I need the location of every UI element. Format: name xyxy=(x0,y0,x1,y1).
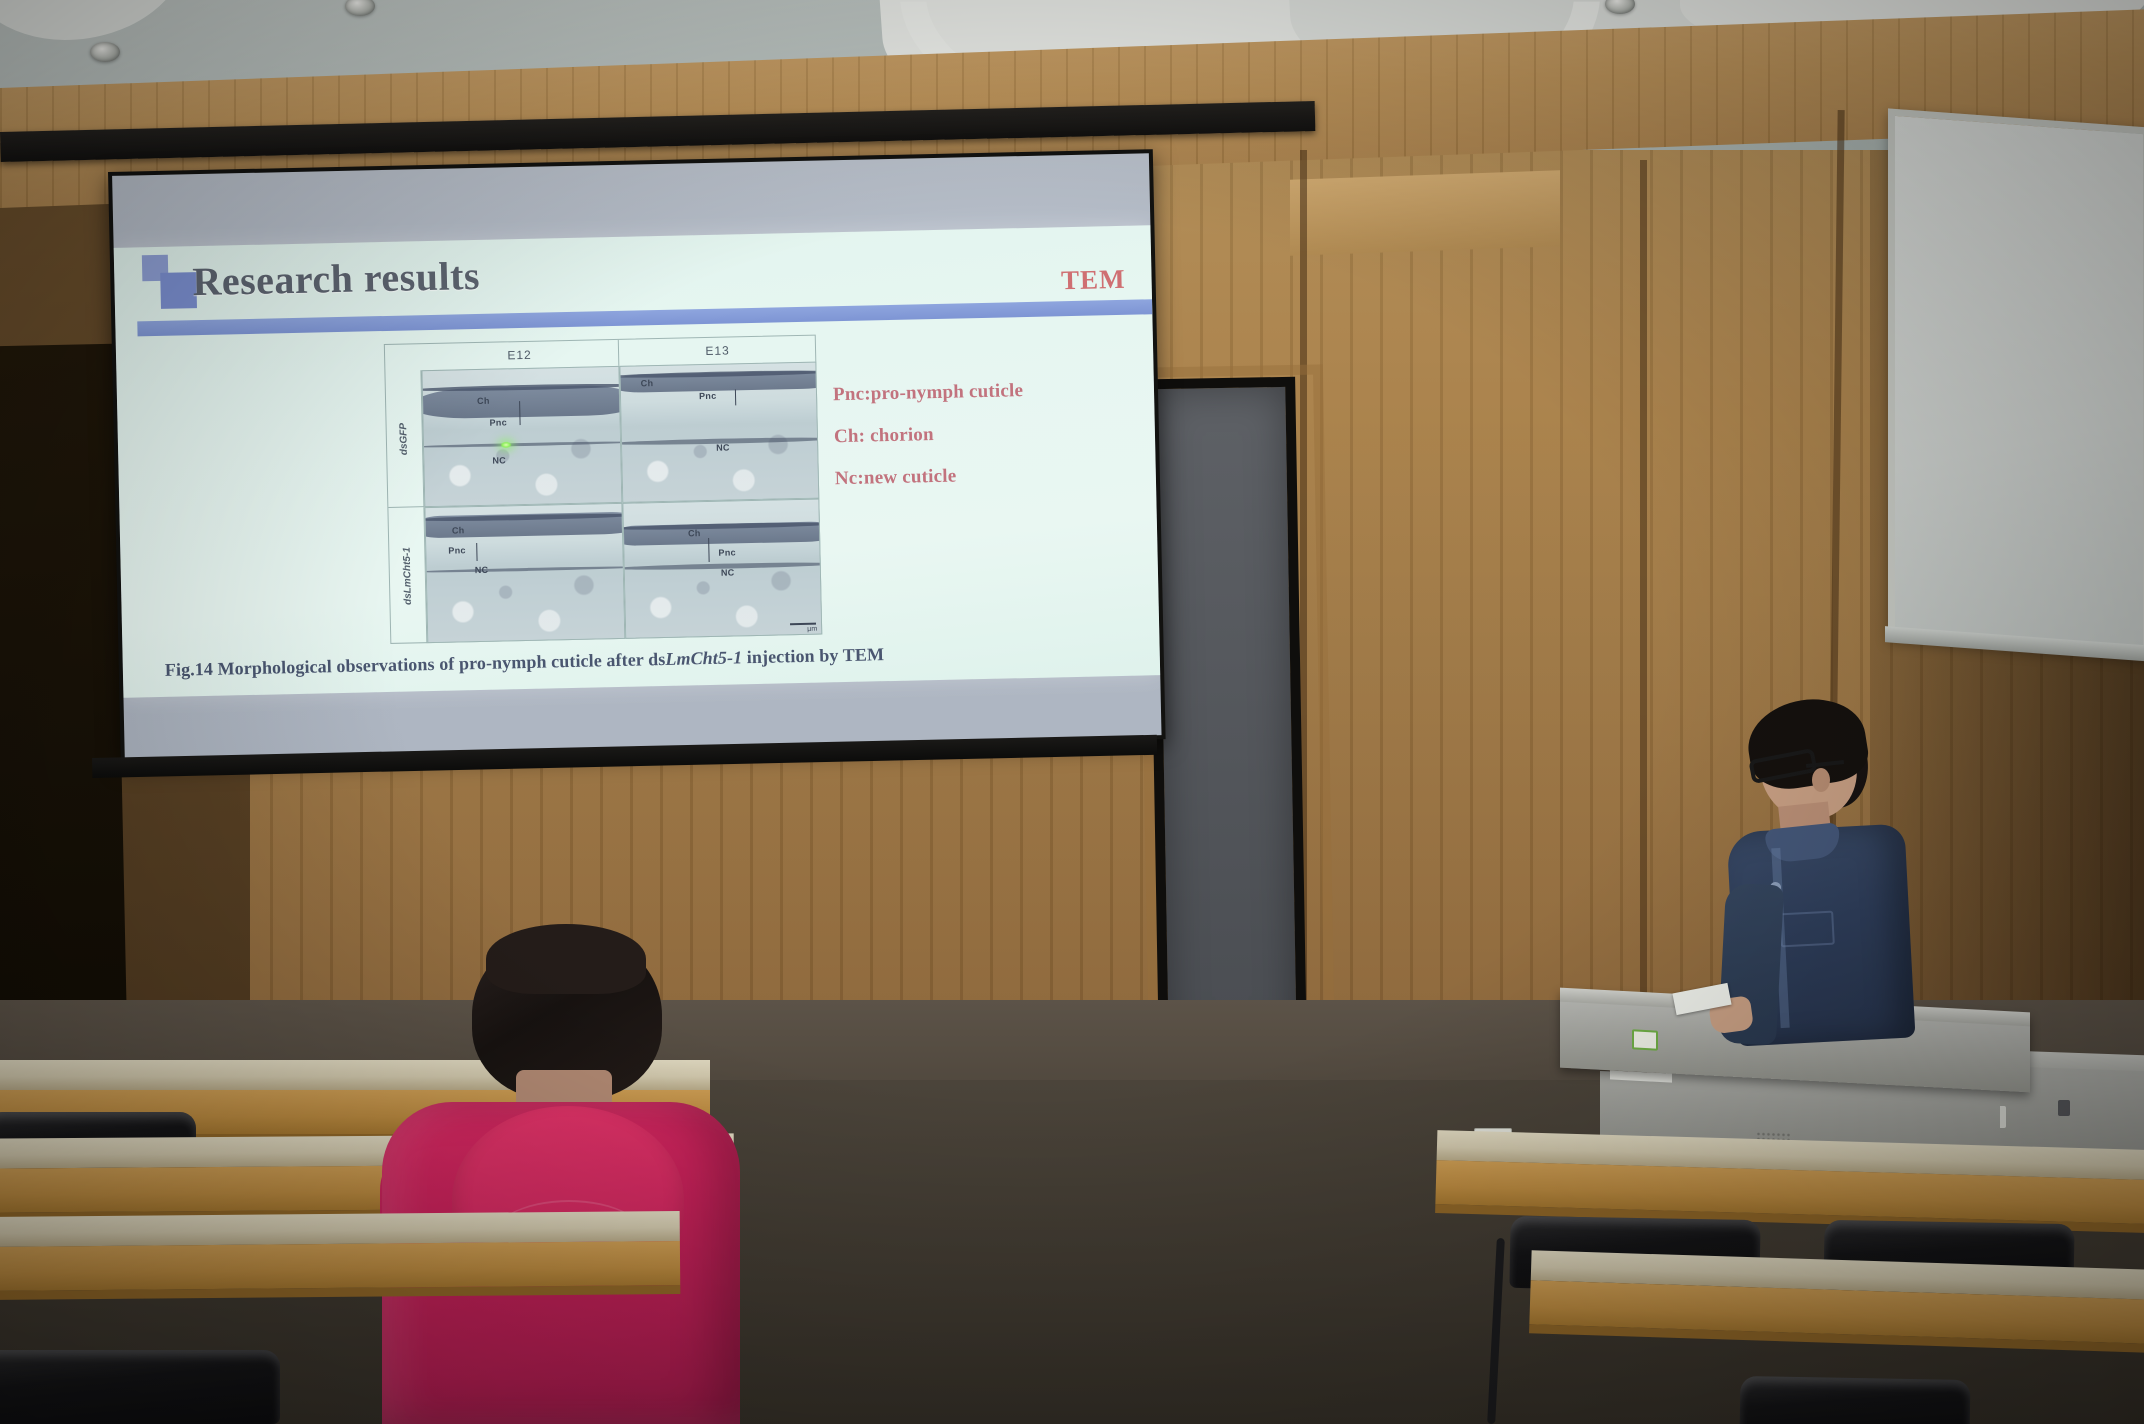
caption-gene-name: LmCht5-1 xyxy=(665,647,742,669)
figure-caption: Fig.14 Morphological observations of pro… xyxy=(165,639,1125,681)
row-label-dslmcht5-1: dsLmCht5-1 xyxy=(388,507,427,644)
row-label-dsgfp: dsGFP xyxy=(385,370,424,508)
legend-item-ch: Ch: chorion xyxy=(834,420,1114,448)
legend-item-pnc: Pnc:pro-nymph cuticle xyxy=(833,378,1113,406)
panel-label-nc: NC xyxy=(716,443,730,453)
wall-seam xyxy=(1640,160,1647,1020)
scale-bar-label: µm xyxy=(807,626,817,633)
projection-screen-surface: Research results TEM E12 E13 dsGFP dsLmC… xyxy=(112,153,1161,757)
panel-label-pnc: Pnc xyxy=(489,417,507,427)
caption-suffix: injection by TEM xyxy=(742,644,884,667)
presentation-slide: Research results TEM E12 E13 dsGFP dsLmC… xyxy=(114,225,1161,698)
wall-beam xyxy=(1290,170,1560,255)
tem-panel-dslmcht5-1-e12: Ch Pnc NC xyxy=(424,503,625,643)
panel-label-ch: Ch xyxy=(452,525,465,535)
panel-label-nc: NC xyxy=(475,565,489,575)
desk-row xyxy=(0,1211,680,1305)
tem-panel-dsgfp-e13: Ch Pnc NC xyxy=(619,362,819,503)
panel-label-nc: NC xyxy=(721,567,735,577)
presenter xyxy=(1688,700,1958,1040)
panel-label-ch: Ch xyxy=(688,528,701,538)
row-label-text: dsGFP xyxy=(399,422,411,454)
desk-row xyxy=(1529,1250,2144,1365)
podium-inventory-sticker xyxy=(1632,1029,1658,1050)
presenter-ear xyxy=(1812,768,1830,792)
panel-label-ch: Ch xyxy=(641,378,654,388)
whiteboard xyxy=(1888,108,2144,657)
panel-label-pnc: Pnc xyxy=(448,545,466,555)
caption-prefix: Fig.14 Morphological observations of pro… xyxy=(165,649,666,680)
presenter-jacket-pocket xyxy=(1779,911,1835,948)
tem-panel-dslmcht5-1-e13: Ch Pnc NC µm xyxy=(622,499,822,639)
audience-hair-top xyxy=(486,924,646,994)
panel-label-pnc: Pnc xyxy=(699,391,717,401)
downlight-icon xyxy=(90,42,120,62)
chair-back[interactable] xyxy=(0,1350,280,1424)
chair-back[interactable] xyxy=(1739,1376,1970,1424)
slide-legend: Pnc:pro-nymph cuticle Ch: chorion Nc:new… xyxy=(833,378,1116,510)
downlight-icon xyxy=(345,0,375,16)
ceiling-cove-panel xyxy=(0,0,190,40)
desk-front-panel xyxy=(0,1241,680,1291)
panel-label-nc: NC xyxy=(492,455,506,465)
chalkboard-right xyxy=(1147,377,1307,1055)
row-label-text: dsLmCht5-1 xyxy=(401,547,413,605)
audience-member xyxy=(390,930,730,1424)
tem-panel-dsgfp-e12: Ch Pnc NC xyxy=(421,366,622,507)
lecture-hall-scene: Research results TEM E12 E13 dsGFP dsLmC… xyxy=(0,0,2144,1424)
projection-screen: Research results TEM E12 E13 dsGFP dsLmC… xyxy=(108,149,1166,762)
legend-item-nc: Nc:new cuticle xyxy=(835,462,1115,490)
tem-figure-grid: E12 E13 dsGFP dsLmCht5-1 Ch xyxy=(384,335,822,644)
blackboard-left xyxy=(0,344,127,1047)
panel-label-pnc: Pnc xyxy=(718,547,736,557)
slide-title: Research results xyxy=(192,252,481,305)
panel-label-ch: Ch xyxy=(477,396,490,406)
podium-lock-icon[interactable] xyxy=(2058,1100,2070,1116)
slide-corner-label: TEM xyxy=(1061,264,1126,296)
